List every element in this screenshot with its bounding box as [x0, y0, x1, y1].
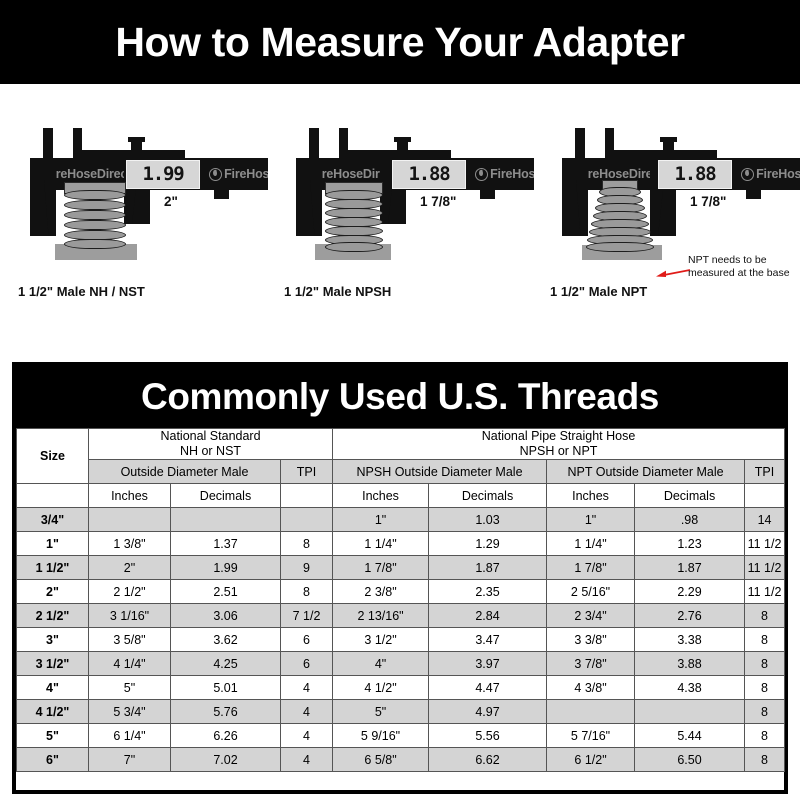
cell-size: 2": [17, 580, 89, 604]
cell-size: 4 1/2": [17, 700, 89, 724]
caliper-thumb-screw-icon: [131, 141, 142, 151]
cell-npsh-decimals: 3.47: [429, 628, 547, 652]
group-label-line1: National Pipe Straight Hose: [333, 429, 784, 444]
cell-nh-decimals: 1.99: [171, 556, 281, 580]
flame-logo-icon: [475, 168, 488, 181]
cell-npsh-decimals: 4.47: [429, 676, 547, 700]
flame-logo-icon: [741, 168, 754, 181]
col-header-nh-tpi: TPI: [281, 460, 333, 484]
cell-nh-tpi: 8: [281, 532, 333, 556]
col-group-national-pipe: National Pipe Straight Hose NPSH or NPT: [333, 429, 785, 460]
cell-npt-decimals: 6.50: [635, 748, 745, 772]
threaded-fitting-illustration: [58, 182, 130, 260]
cell-npt-tpi: 11 1/2: [745, 580, 785, 604]
table-row: 4"5"5.0144 1/2"4.474 3/8"4.388: [17, 676, 785, 700]
cell-npt-tpi: 8: [745, 628, 785, 652]
table-unit-header-row: Inches Decimals Inches Decimals Inches D…: [17, 484, 785, 508]
cell-npt-inches: 2 3/4": [547, 604, 635, 628]
threaded-fitting-illustration: [320, 182, 386, 260]
caliper-illustration: FireHoseDirect FireHoseDirect 1.99: [18, 128, 268, 260]
col-header-nh-tpi-blank: [281, 484, 333, 508]
cell-npsh-decimals: 4.97: [429, 700, 547, 724]
cell-nh-tpi: 7 1/2: [281, 604, 333, 628]
cell-npt-inches: 4 3/8": [547, 676, 635, 700]
cell-npsh-inches: 4 1/2": [333, 676, 429, 700]
cell-npt-decimals: 2.29: [635, 580, 745, 604]
col-header-npsh-od: NPSH Outside Diameter Male: [333, 460, 547, 484]
cell-nh-inches: 3 5/8": [89, 628, 171, 652]
col-header-npt-od: NPT Outside Diameter Male: [547, 460, 745, 484]
cell-size: 2 1/2": [17, 604, 89, 628]
col-header-nh-decimals: Decimals: [171, 484, 281, 508]
col-header-size-blank: [17, 484, 89, 508]
cell-size: 1 1/2": [17, 556, 89, 580]
cell-npt-inches: 6 1/2": [547, 748, 635, 772]
col-header-npt-inches: Inches: [547, 484, 635, 508]
caliper-lcd-display: 1.99: [126, 160, 200, 189]
cell-npsh-inches: 5 9/16": [333, 724, 429, 748]
thread-ridge-icon: [586, 242, 654, 252]
cell-npt-decimals: 5.44: [635, 724, 745, 748]
cell-npt-inches: [547, 700, 635, 724]
cell-npsh-decimals: 1.87: [429, 556, 547, 580]
caliper-lcd-display: 1.88: [392, 160, 466, 189]
threaded-fitting-illustration: [586, 180, 656, 260]
thread-ridge-icon: [64, 210, 126, 220]
cell-nh-tpi: 4: [281, 700, 333, 724]
cell-size: 4": [17, 676, 89, 700]
cell-nh-decimals: 4.25: [171, 652, 281, 676]
cell-npt-decimals: 1.87: [635, 556, 745, 580]
cell-npt-tpi: 8: [745, 604, 785, 628]
table-row: 1 1/2"2"1.9991 7/8"1.871 7/8"1.8711 1/2: [17, 556, 785, 580]
cell-npt-decimals: 3.88: [635, 652, 745, 676]
caliper-depth-lug-icon: [746, 190, 761, 199]
diagram-caption: 1 1/2" Male NPT: [550, 284, 647, 299]
cell-nh-tpi: 9: [281, 556, 333, 580]
table-group-header-row: Size National Standard NH or NST Nationa…: [17, 429, 785, 460]
thread-ridge-icon: [64, 220, 126, 230]
cell-npsh-inches: 2 13/16": [333, 604, 429, 628]
diagram-npsh: FireHoseDirect FireHoseDirect 1.88: [266, 84, 532, 356]
cell-size: 3/4": [17, 508, 89, 532]
cell-nh-tpi: 4: [281, 676, 333, 700]
table-row: 4 1/2"5 3/4"5.7645"4.978: [17, 700, 785, 724]
caliper-left-jaw-icon: [562, 158, 588, 236]
cell-npt-tpi: 11 1/2: [745, 556, 785, 580]
cell-nh-inches: 5 3/4": [89, 700, 171, 724]
cell-npt-tpi: 14: [745, 508, 785, 532]
caliper-thumb-screw-icon: [663, 141, 674, 151]
caliper-diagrams-section: FireHoseDirect FireHoseDirect 1.99: [0, 84, 800, 356]
cell-npt-tpi: 8: [745, 652, 785, 676]
thread-ridge-icon: [64, 239, 126, 249]
table-title: Commonly Used U.S. Threads: [141, 376, 659, 418]
cell-nh-tpi: 8: [281, 580, 333, 604]
page-title: How to Measure Your Adapter: [115, 19, 684, 66]
group-label-line2: NPSH or NPT: [333, 444, 784, 459]
cell-npt-decimals: 3.38: [635, 628, 745, 652]
npt-note-line2: measured at the base: [688, 267, 790, 280]
diagram-npt: FireHoseDirect FireHoseDirect 1.88: [532, 84, 798, 356]
cell-nh-inches: 4 1/4": [89, 652, 171, 676]
caliper-upper-jaw-blade-icon: [575, 128, 585, 158]
table-row: 5"6 1/4"6.2645 9/16"5.565 7/16"5.448: [17, 724, 785, 748]
cell-nh-decimals: 1.37: [171, 532, 281, 556]
cell-nh-decimals: 5.01: [171, 676, 281, 700]
thread-ridge-icon: [64, 200, 126, 210]
caliper-left-jaw-icon: [296, 158, 322, 236]
cell-npt-decimals: 2.76: [635, 604, 745, 628]
table-row: 2 1/2"3 1/16"3.067 1/22 13/16"2.842 3/4"…: [17, 604, 785, 628]
caliper-left-jaw-icon: [30, 158, 56, 236]
cell-npsh-decimals: 2.84: [429, 604, 547, 628]
threads-table-section: Commonly Used U.S. Threads Size National…: [0, 356, 800, 800]
cell-nh-tpi: 4: [281, 724, 333, 748]
cell-npt-tpi: 8: [745, 724, 785, 748]
table-row: 1"1 3/8"1.3781 1/4"1.291 1/4"1.2311 1/2: [17, 532, 785, 556]
cell-nh-tpi: [281, 508, 333, 532]
cell-size: 6": [17, 748, 89, 772]
cell-nh-inches: 1 3/8": [89, 532, 171, 556]
cell-npsh-inches: 1 7/8": [333, 556, 429, 580]
cell-npt-decimals: 4.38: [635, 676, 745, 700]
col-header-nh-od: Outside Diameter Male: [89, 460, 281, 484]
caliper-depth-lug-icon: [480, 190, 495, 199]
cell-npt-tpi: 8: [745, 700, 785, 724]
cell-size: 1": [17, 532, 89, 556]
cell-npt-decimals: .98: [635, 508, 745, 532]
group-label-line2: NH or NST: [89, 444, 332, 459]
cell-nh-inches: 2": [89, 556, 171, 580]
beam-watermark-brand: FireHoseDirect: [756, 167, 800, 181]
table-sub-header-row: Outside Diameter Male TPI NPSH Outside D…: [17, 460, 785, 484]
npt-note-arrow-icon: [656, 267, 690, 277]
cell-npsh-inches: 1 1/4": [333, 532, 429, 556]
cell-npt-tpi: 8: [745, 748, 785, 772]
col-header-npsh-decimals: Decimals: [429, 484, 547, 508]
threads-table-frame: Commonly Used U.S. Threads Size National…: [12, 362, 788, 794]
cell-nh-inches: 7": [89, 748, 171, 772]
cell-npsh-inches: 5": [333, 700, 429, 724]
group-label-line1: National Standard: [89, 429, 332, 444]
cell-size: 3": [17, 628, 89, 652]
threads-table: Size National Standard NH or NST Nationa…: [16, 428, 785, 772]
cell-nh-inches: 2 1/2": [89, 580, 171, 604]
cell-npsh-inches: 1": [333, 508, 429, 532]
cell-npt-inches: 2 5/16": [547, 580, 635, 604]
cell-npt-inches: 1 1/4": [547, 532, 635, 556]
dimension-label: 1 7/8": [420, 194, 456, 209]
npt-note: NPT needs to be measured at the base: [688, 254, 790, 280]
cell-npsh-decimals: 3.97: [429, 652, 547, 676]
npt-note-line1: NPT needs to be: [688, 254, 790, 267]
cell-npsh-inches: 2 3/8": [333, 580, 429, 604]
cell-nh-decimals: 7.02: [171, 748, 281, 772]
diagram-caption: 1 1/2" Male NPSH: [284, 284, 391, 299]
cell-nh-inches: 3 1/16": [89, 604, 171, 628]
cell-nh-decimals: [171, 508, 281, 532]
beam-watermark-brand: FireHoseDirect: [224, 167, 268, 181]
caliper-depth-lug-icon: [214, 190, 229, 199]
cell-npsh-decimals: 6.62: [429, 748, 547, 772]
beam-watermark-brand: FireHoseDirect: [45, 167, 131, 181]
cell-size: 5": [17, 724, 89, 748]
table-row: 3"3 5/8"3.6263 1/2"3.473 3/8"3.388: [17, 628, 785, 652]
table-row: 6"7"7.0246 5/8"6.626 1/2"6.508: [17, 748, 785, 772]
table-body: 3/4"1"1.031".98141"1 3/8"1.3781 1/4"1.29…: [17, 508, 785, 772]
cell-npt-inches: 3 3/8": [547, 628, 635, 652]
diagram-caption: 1 1/2" Male NH / NST: [18, 284, 145, 299]
caliper-thumb-screw-icon: [397, 141, 408, 151]
thread-ridge-icon: [325, 242, 383, 252]
cell-npsh-decimals: 1.03: [429, 508, 547, 532]
cell-npsh-inches: 4": [333, 652, 429, 676]
col-header-npt-tpi: TPI: [745, 460, 785, 484]
cell-nh-tpi: 6: [281, 628, 333, 652]
cell-npsh-decimals: 2.35: [429, 580, 547, 604]
cell-npsh-inches: 6 5/8": [333, 748, 429, 772]
cell-npt-inches: 1 7/8": [547, 556, 635, 580]
flame-logo-icon: [209, 168, 222, 181]
dimension-label: 1 7/8": [690, 194, 726, 209]
col-header-npsh-inches: Inches: [333, 484, 429, 508]
cell-npt-inches: 3 7/8": [547, 652, 635, 676]
col-header-size: Size: [17, 429, 89, 484]
cell-nh-decimals: 6.26: [171, 724, 281, 748]
caliper-lcd-value: 1.99: [143, 165, 184, 184]
table-head: Size National Standard NH or NST Nationa…: [17, 429, 785, 508]
table-title-banner: Commonly Used U.S. Threads: [16, 366, 784, 428]
cell-npsh-decimals: 5.56: [429, 724, 547, 748]
col-header-npt-decimals: Decimals: [635, 484, 745, 508]
cell-npt-tpi: 11 1/2: [745, 532, 785, 556]
cell-npsh-decimals: 1.29: [429, 532, 547, 556]
table-row: 3/4"1"1.031".9814: [17, 508, 785, 532]
cell-nh-inches: 5": [89, 676, 171, 700]
cell-nh-decimals: 5.76: [171, 700, 281, 724]
cell-nh-tpi: 4: [281, 748, 333, 772]
diagram-nh-nst: FireHoseDirect FireHoseDirect 1.99: [0, 84, 266, 356]
caliper-upper-jaw-blade-icon: [309, 128, 319, 158]
cell-npt-decimals: [635, 700, 745, 724]
caliper-lcd-display: 1.88: [658, 160, 732, 189]
cell-nh-decimals: 2.51: [171, 580, 281, 604]
cell-npt-inches: 5 7/16": [547, 724, 635, 748]
col-group-national-standard: National Standard NH or NST: [89, 429, 333, 460]
cell-nh-decimals: 3.62: [171, 628, 281, 652]
beam-watermark-brand: FireHoseDirect: [490, 167, 534, 181]
col-header-nh-inches: Inches: [89, 484, 171, 508]
table-row: 3 1/2"4 1/4"4.2564"3.973 7/8"3.888: [17, 652, 785, 676]
caliper-lcd-value: 1.88: [675, 165, 716, 184]
cell-nh-inches: [89, 508, 171, 532]
cell-size: 3 1/2": [17, 652, 89, 676]
thread-ridge-icon: [64, 190, 126, 200]
page-title-banner: How to Measure Your Adapter: [0, 0, 800, 84]
cell-npt-decimals: 1.23: [635, 532, 745, 556]
caliper-illustration: FireHoseDirect FireHoseDirect 1.88: [284, 128, 534, 260]
cell-npt-inches: 1": [547, 508, 635, 532]
cell-npt-tpi: 8: [745, 676, 785, 700]
caliper-upper-jaw-blade-icon: [43, 128, 53, 158]
col-header-npt-tpi-blank: [745, 484, 785, 508]
cell-npsh-inches: 3 1/2": [333, 628, 429, 652]
cell-nh-inches: 6 1/4": [89, 724, 171, 748]
caliper-lcd-value: 1.88: [409, 165, 450, 184]
cell-nh-decimals: 3.06: [171, 604, 281, 628]
dimension-label: 2": [164, 194, 178, 209]
caliper-illustration: FireHoseDirect FireHoseDirect 1.88: [550, 128, 800, 260]
table-row: 2"2 1/2"2.5182 3/8"2.352 5/16"2.2911 1/2: [17, 580, 785, 604]
cell-nh-tpi: 6: [281, 652, 333, 676]
